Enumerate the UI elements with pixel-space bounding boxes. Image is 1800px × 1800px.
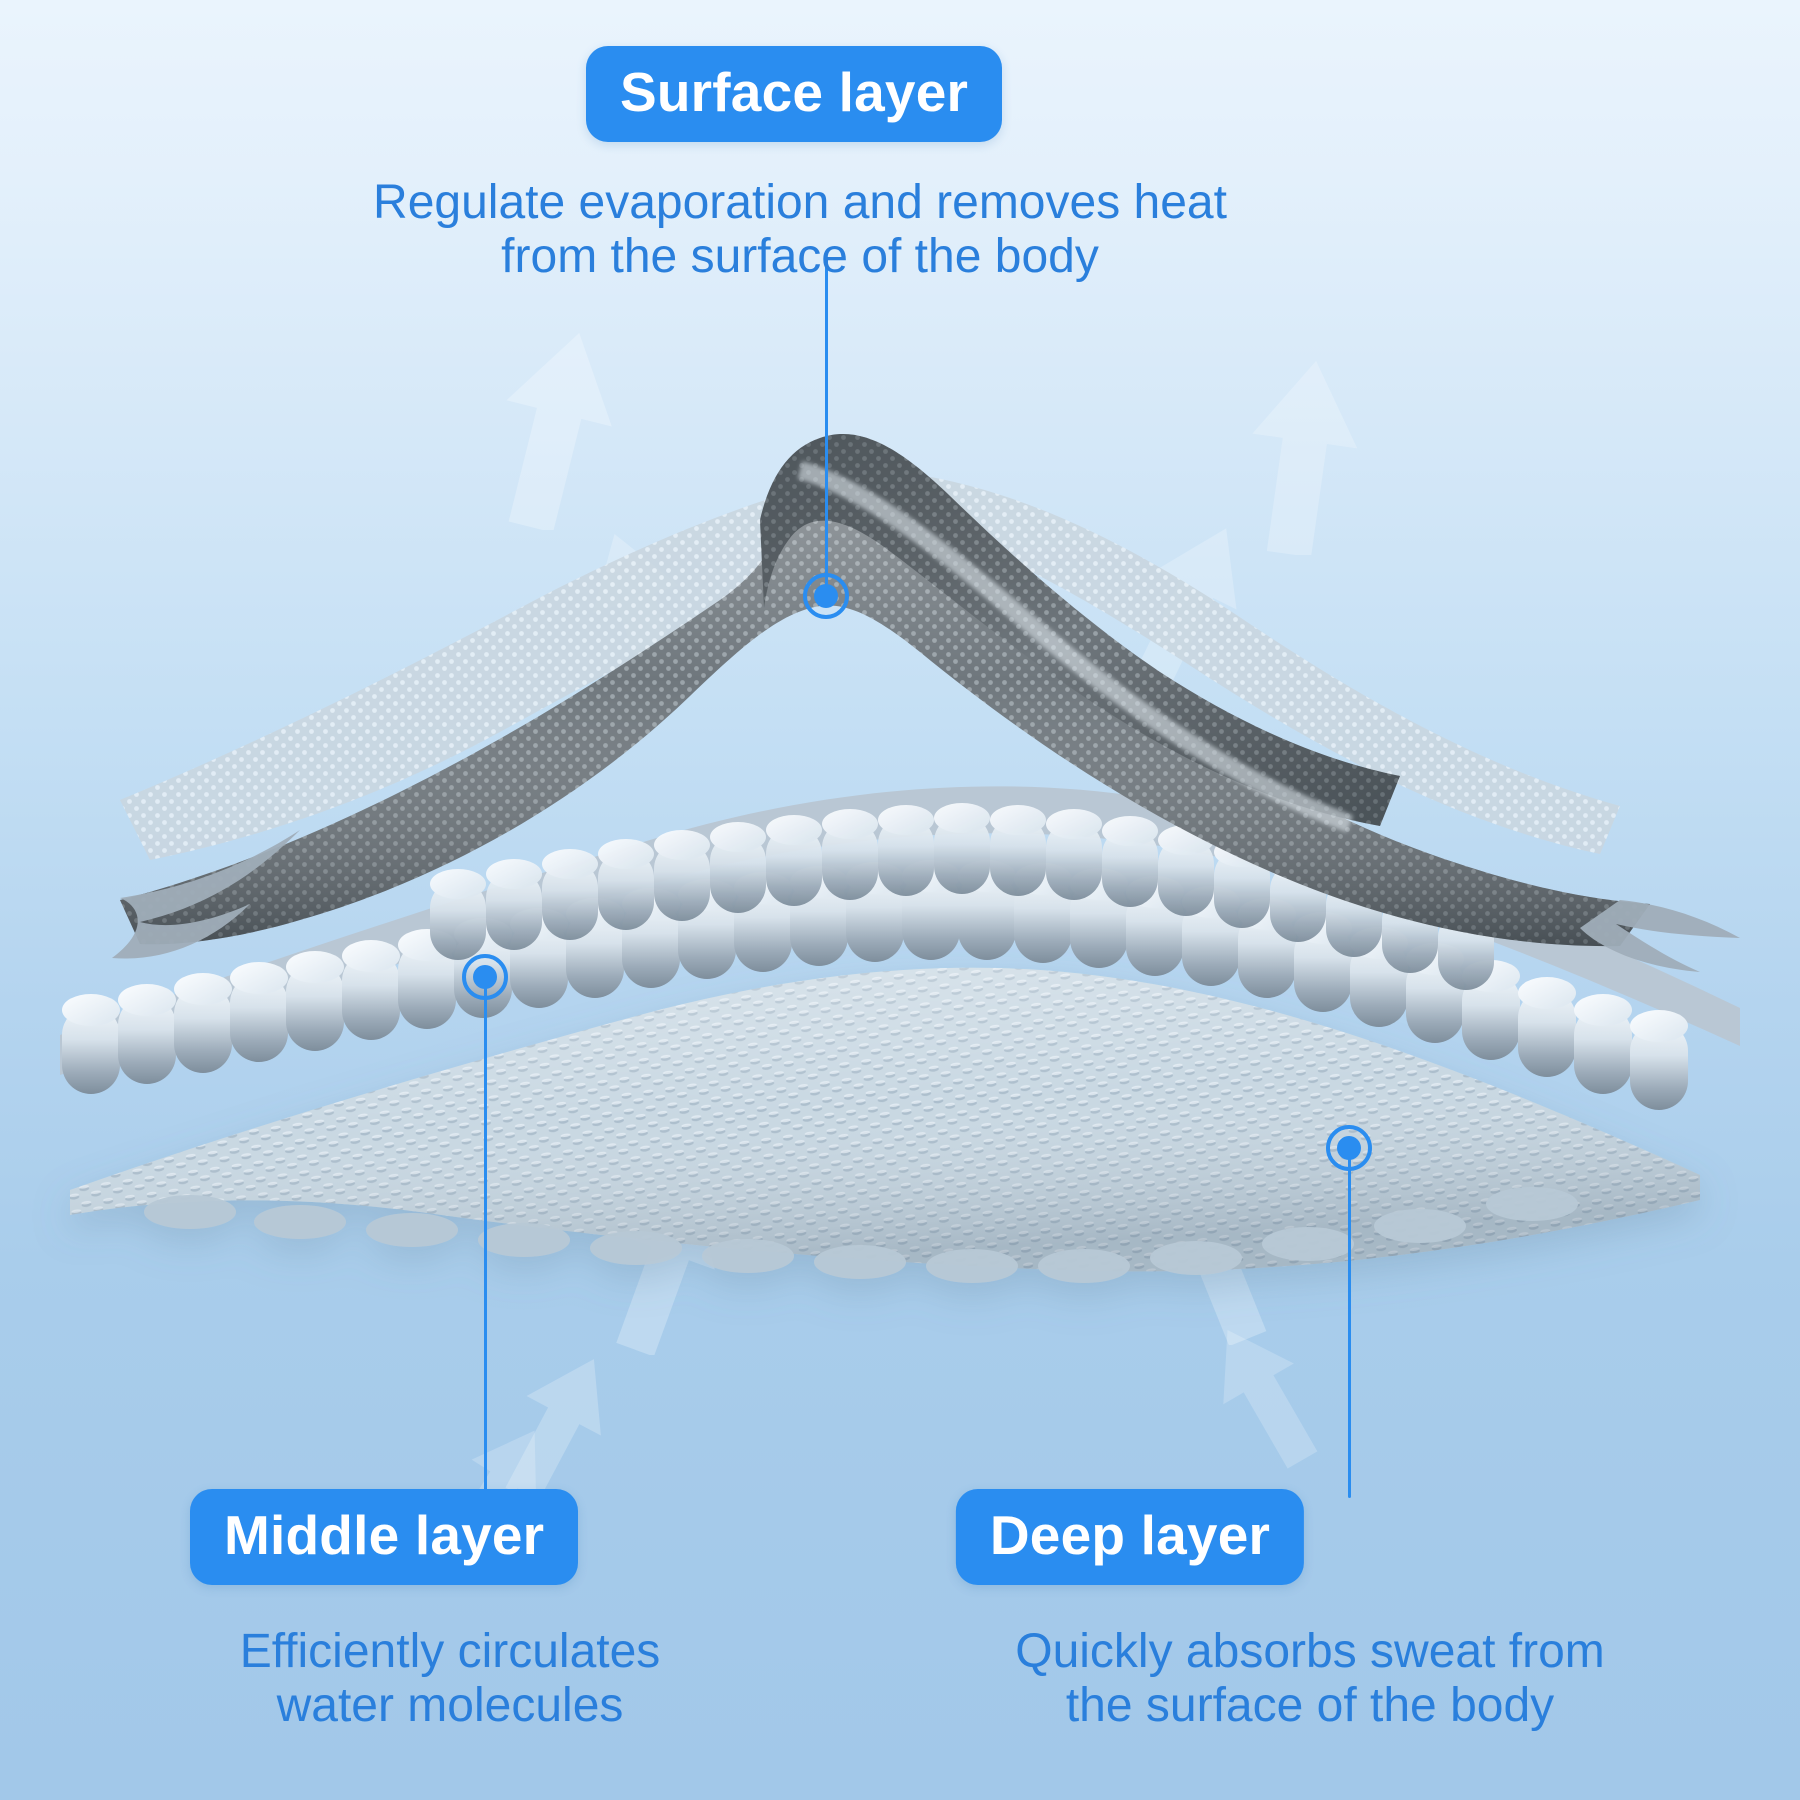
description-line: Quickly absorbs sweat from: [960, 1625, 1660, 1679]
description-line: the surface of the body: [960, 1679, 1660, 1733]
marker-middle-layer[interactable]: [462, 954, 508, 1000]
marker-surface-layer[interactable]: [803, 573, 849, 619]
description-line: water molecules: [140, 1679, 760, 1733]
badge-surface-layer[interactable]: Surface layer: [586, 46, 1002, 142]
description-deep-layer: Quickly absorbs sweat from the surface o…: [960, 1625, 1660, 1733]
marker-deep-layer[interactable]: [1326, 1125, 1372, 1171]
description-surface-layer: Regulate evaporation and removes heat fr…: [250, 176, 1350, 284]
description-line: Regulate evaporation and removes heat: [250, 176, 1350, 230]
leader-line-surface: [825, 258, 828, 598]
infographic-canvas: Surface layer Middle layer Deep layer Re…: [0, 0, 1800, 1800]
description-line: from the surface of the body: [250, 230, 1350, 284]
badge-middle-layer[interactable]: Middle layer: [190, 1489, 578, 1585]
badge-deep-layer[interactable]: Deep layer: [956, 1489, 1304, 1585]
leader-line-deep: [1348, 1148, 1351, 1498]
leader-line-middle: [484, 977, 487, 1497]
description-line: Efficiently circulates: [140, 1625, 760, 1679]
description-middle-layer: Efficiently circulates water molecules: [140, 1625, 760, 1733]
